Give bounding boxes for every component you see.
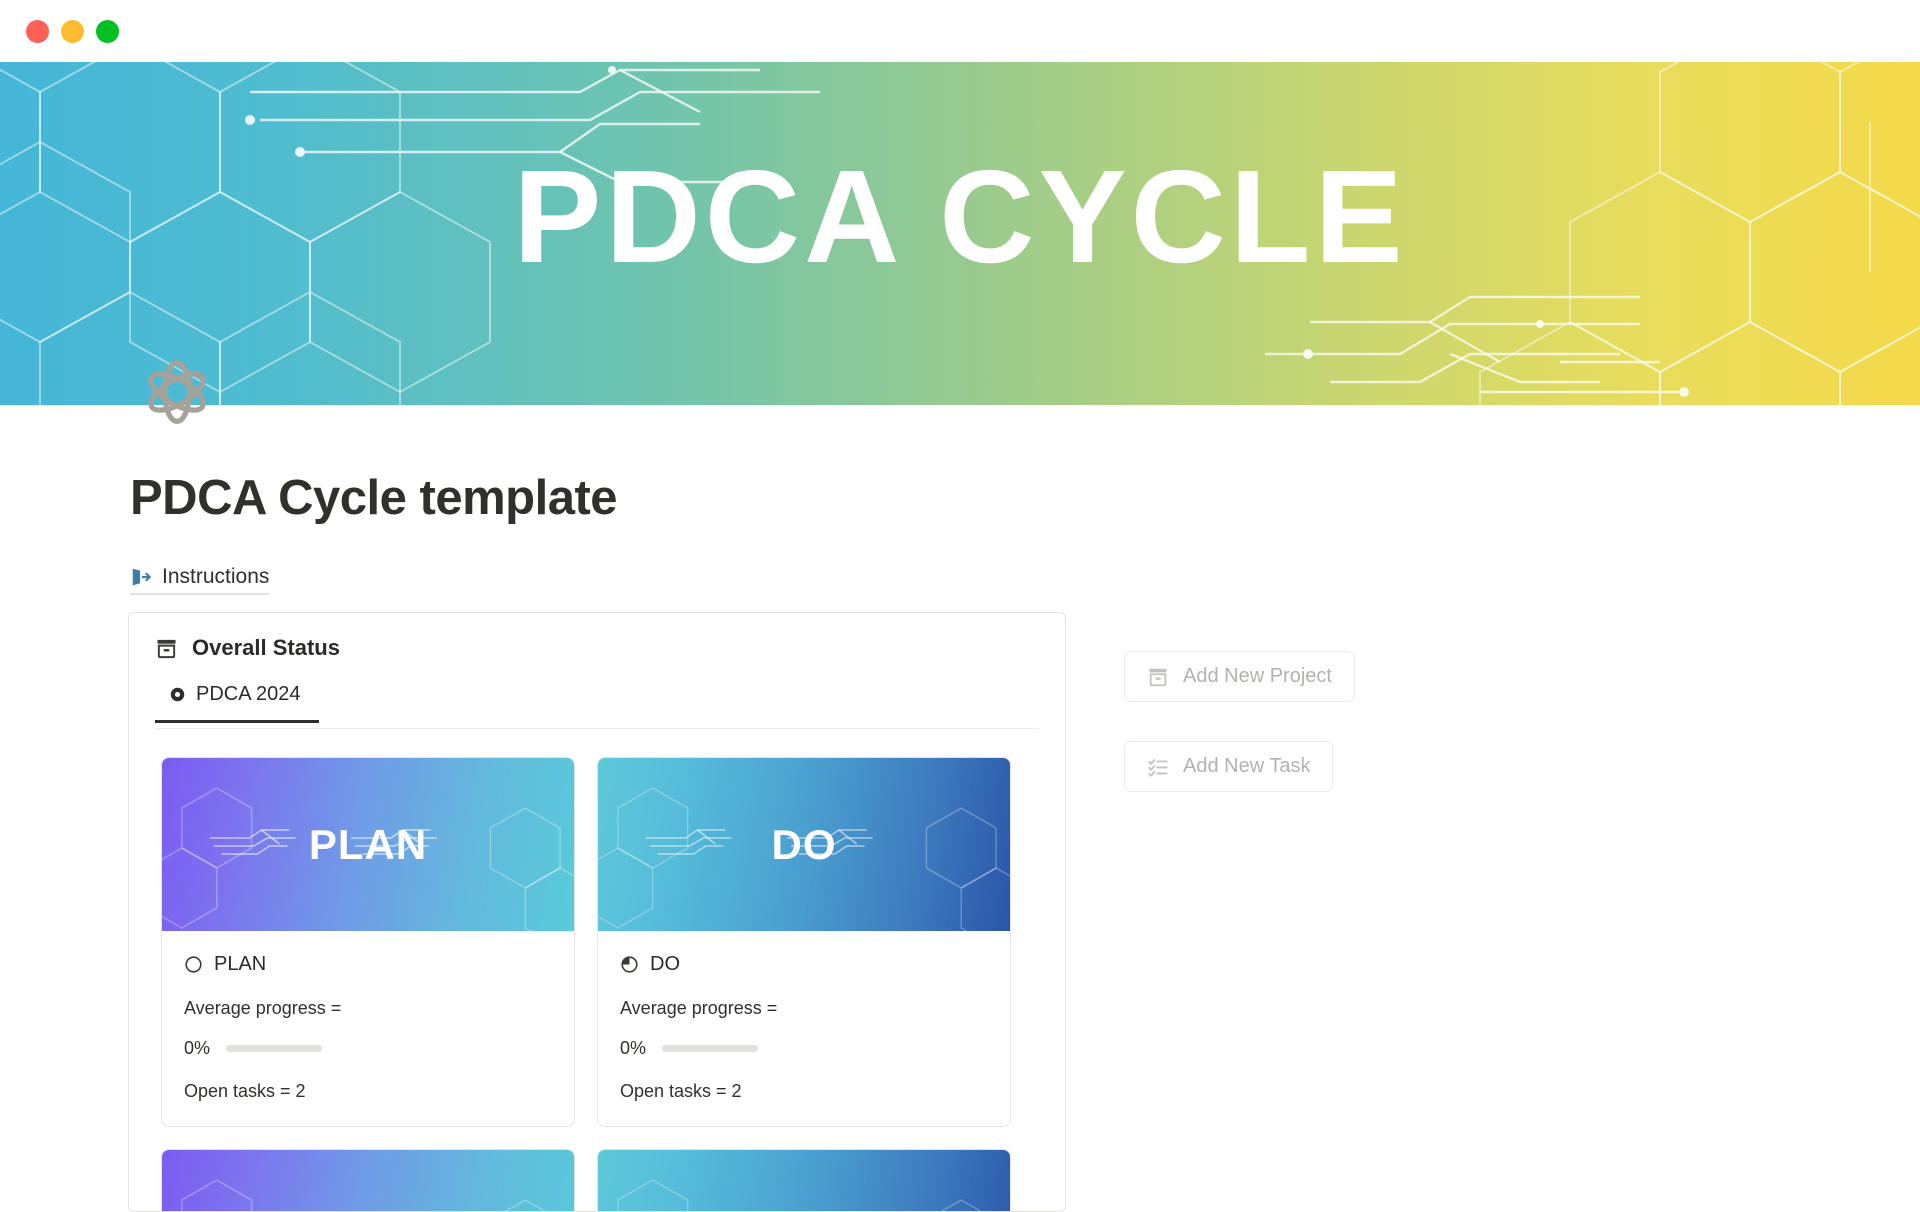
phase-card-check[interactable] (161, 1149, 575, 1212)
phase-card-progress-label: Average progress = (620, 998, 988, 1019)
phase-card-banner-label: DO (772, 821, 837, 869)
phase-cards-grid: PLAN PLAN Average progress = 0% Open tas… (129, 729, 1065, 1212)
window-titlebar (0, 0, 1920, 62)
progress-percent: 0% (184, 1038, 210, 1059)
phase-card-body: PLAN Average progress = 0% Open tasks = … (162, 931, 574, 1126)
archive-box-icon (155, 637, 178, 660)
maximize-button[interactable] (96, 20, 119, 43)
phase-card-banner: DO (598, 758, 1010, 931)
phase-card-status-row: PLAN (184, 953, 552, 976)
phase-card-body: DO Average progress = 0% Open tasks = 2 (598, 931, 1010, 1126)
phase-card-progress: 0% (620, 1038, 988, 1059)
instructions-label: Instructions (162, 565, 269, 589)
tab-pdca-2024[interactable]: PDCA 2024 (155, 683, 319, 723)
pie-chart-icon (620, 955, 639, 974)
tab-label: PDCA 2024 (196, 683, 301, 706)
overall-status-header: Overall Status (129, 613, 1065, 661)
action-buttons: Add New Project Add New Task (1124, 651, 1355, 792)
phase-card-status-row: DO (620, 953, 988, 976)
progress-percent: 0% (620, 1038, 646, 1059)
hero-banner: PDCA CYCLE (0, 62, 1920, 405)
card-pattern-icon (162, 1150, 574, 1212)
empty-circle-icon (184, 955, 203, 974)
overall-status-title: Overall Status (192, 635, 340, 661)
phase-card-banner: PLAN (162, 758, 574, 931)
instructions-link[interactable]: Instructions (130, 565, 269, 595)
page-title: PDCA Cycle template (130, 470, 617, 526)
phase-card-progress-label: Average progress = (184, 998, 552, 1019)
phase-card-name: PLAN (214, 953, 266, 976)
add-new-task-button[interactable]: Add New Task (1124, 741, 1333, 792)
phase-card-banner (598, 1150, 1010, 1212)
add-new-project-button[interactable]: Add New Project (1124, 651, 1355, 702)
add-new-task-label: Add New Task (1183, 755, 1310, 778)
phase-card-plan[interactable]: PLAN PLAN Average progress = 0% Open tas… (161, 757, 575, 1127)
phase-card-open-tasks: Open tasks = 2 (620, 1081, 988, 1102)
checklist-icon (1147, 756, 1169, 778)
exit-door-icon (130, 566, 152, 588)
atom-icon (140, 355, 214, 429)
phase-card-progress: 0% (184, 1038, 552, 1059)
filled-circle-icon (169, 686, 186, 703)
hero-title: PDCA CYCLE (0, 62, 1920, 405)
close-button[interactable] (26, 20, 49, 43)
overall-status-card: Overall Status PDCA 2024 (128, 612, 1066, 1212)
phase-card-do[interactable]: DO DO Average progress = 0% Ope (597, 757, 1011, 1127)
card-pattern-icon (598, 1150, 1010, 1212)
phase-card-act[interactable] (597, 1149, 1011, 1212)
phase-card-name: DO (650, 953, 680, 976)
minimize-button[interactable] (61, 20, 84, 43)
archive-box-icon (1147, 666, 1169, 688)
status-tabbar: PDCA 2024 (155, 685, 1039, 729)
phase-card-banner (162, 1150, 574, 1212)
progress-track (662, 1045, 758, 1052)
phase-card-banner-label: PLAN (309, 821, 427, 869)
phase-card-open-tasks: Open tasks = 2 (184, 1081, 552, 1102)
add-new-project-label: Add New Project (1183, 665, 1332, 688)
progress-track (226, 1045, 322, 1052)
